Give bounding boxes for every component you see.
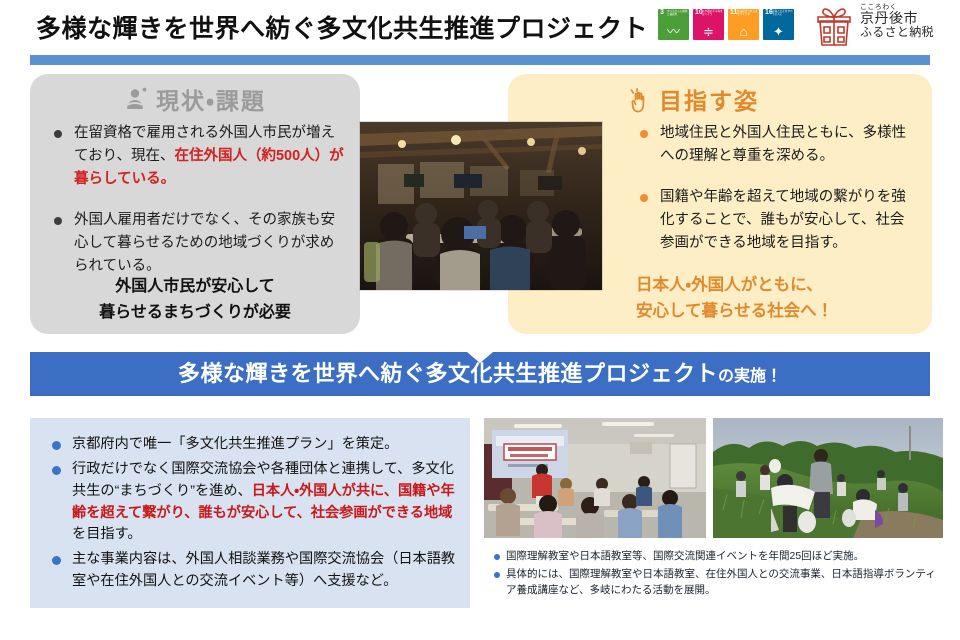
furusato-nozei-logo: こころわく 京丹後市 ふるさと納税	[812, 4, 942, 48]
banner-text: 多様な輝きを世界へ紡ぐ多文化共生推進プロジェクトの実施！	[30, 352, 930, 396]
goal-vision-list: 地域住民と外国人住民ともに、多様性への理解と尊重を深める。 国籍や年齢を超えて地…	[636, 122, 918, 273]
pointing-hand-icon	[628, 88, 652, 114]
sdg-label: 住み続けられるまちづくりを	[737, 10, 758, 17]
bullet-text-normal: 京都府内で唯一「多文化共生推進プラン」を策定。	[72, 436, 398, 452]
troubled-person-icon	[124, 87, 150, 113]
sdg-icon-group: 3 すべての人に健康と福祉を 〰 10 人や国の不平等をなくそう ≑ 11 住み…	[658, 9, 794, 40]
current-issues-conclusion: 外国人市民が安心して 暮らせるまちづくりが必要	[30, 274, 360, 325]
meeting-in-cafe-photo	[360, 122, 602, 290]
sdg-icon-11: 11 住み続けられるまちづくりを ⌂	[728, 9, 759, 40]
current-issues-heading-text: 現状・課題	[156, 88, 266, 114]
current-issues-list: 在留資格で雇用される外国人市民が増えており、現在、在住外国人（約500人）が暮ら…	[48, 122, 348, 295]
sdg-number: 3	[660, 9, 664, 17]
bullet-text-normal: 外国人雇用者だけでなく、その家族も安心して暮らせるための地域づくりが求められてい…	[74, 212, 335, 274]
furusato-city-name: 京丹後市	[860, 11, 934, 26]
list-item: 行政だけでなく国際交流協会や各種団体と連携して、多文化共生の“まちづくり”を進め…	[42, 459, 462, 546]
list-item: 京都府内で唯一「多文化共生推進プラン」を策定。	[42, 434, 462, 456]
current-issues-panel: 現状・課題 在留資格で雇用される外国人市民が増えており、現在、在住外国人（約50…	[30, 74, 360, 334]
sdg-label: 人や国の不平等をなくそう	[702, 10, 723, 17]
list-item: 国際理解教室や日本語教室等、国際交流関連イベントを年間25回ほど実施。	[492, 549, 944, 565]
photo-artwork	[484, 418, 706, 538]
conclusion-line-1: 外国人市民が安心して	[30, 274, 360, 300]
goal-vision-heading-text: 目指す姿	[659, 88, 759, 114]
initiatives-list: 京都府内で唯一「多文化共生推進プラン」を策定。 行政だけでなく国際交流協会や各種…	[42, 434, 462, 596]
equality-icon: ≑	[693, 25, 724, 38]
current-issues-heading: 現状・課題	[30, 82, 360, 116]
list-item: 地域住民と外国人住民ともに、多様性への理解と尊重を深める。	[636, 122, 918, 168]
dove-gavel-icon: ✦	[763, 25, 794, 38]
japanese-class-photo	[484, 418, 706, 538]
photo-artwork	[713, 418, 943, 538]
sdg-icon-16: 16 平和と公正をすべての人に ✦	[763, 9, 794, 40]
slide-header: 多様な輝きを世界へ紡ぐ多文化共生推進プロジェクト 3 すべての人に健康と福祉を …	[0, 0, 960, 52]
city-icon: ⌂	[728, 25, 759, 38]
banner-suffix-text: の実施！	[718, 368, 782, 385]
furusato-text-block: こころわく 京丹後市 ふるさと納税	[860, 4, 934, 39]
sdg-icon-10: 10 人や国の不平等をなくそう ≑	[693, 9, 724, 40]
list-item: 国籍や年齢を超えて地域の繋がりを強化することで、誰もが安心して、社会参画ができる…	[636, 186, 918, 255]
conclusion-line-1: 日本人・外国人がともに、	[636, 272, 926, 298]
bullet-text-normal-tail: を目指す。	[72, 526, 142, 542]
header-divider-bar	[30, 55, 930, 65]
community-cleanup-photo	[713, 418, 943, 538]
furusato-program-name: ふるさと納税	[860, 26, 934, 39]
initiatives-panel: 京都府内で唯一「多文化共生推進プラン」を策定。 行政だけでなく国際交流協会や各種…	[30, 418, 470, 608]
gift-box-icon	[812, 5, 856, 47]
goal-vision-conclusion: 日本人・外国人がともに、 安心して暮らせる社会へ！	[636, 272, 926, 325]
goal-vision-heading: 目指す姿	[628, 82, 759, 116]
conclusion-line-2: 暮らせるまちづくりが必要	[30, 300, 360, 326]
project-banner: 多様な輝きを世界へ紡ぐ多文化共生推進プロジェクトの実施！	[30, 352, 930, 396]
activity-notes-list: 国際理解教室や日本語教室等、国際交流関連イベントを年間25回ほど実施。 具体的に…	[492, 549, 944, 601]
sdg-label: すべての人に健康と福祉を	[667, 10, 688, 17]
list-item: 主な事業内容は、外国人相談業務や国際交流協会（日本語教室や在住外国人との交流イベ…	[42, 549, 462, 593]
bullet-text-normal: 主な事業内容は、外国人相談業務や国際交流協会（日本語教室や在住外国人との交流イベ…	[72, 551, 455, 589]
banner-main-text: 多様な輝きを世界へ紡ぐ多文化共生推進プロジェクト	[178, 361, 718, 386]
sdg-icon-3: 3 すべての人に健康と福祉を 〰	[658, 9, 689, 40]
page-title: 多様な輝きを世界へ紡ぐ多文化共生推進プロジェクト	[36, 9, 648, 45]
sdg-label: 平和と公正をすべての人に	[772, 10, 793, 17]
list-item: 在留資格で雇用される外国人市民が増えており、現在、在住外国人（約500人）が暮ら…	[48, 122, 348, 191]
list-item: 外国人雇用者だけでなく、その家族も安心して暮らせるための地域づくりが求められてい…	[48, 209, 348, 278]
photo-artwork	[360, 122, 602, 290]
heartbeat-icon: 〰	[658, 25, 689, 38]
list-item: 具体的には、国際理解教室や日本語教室、在住外国人との交流事業、日本語指導ボランテ…	[492, 567, 944, 599]
conclusion-line-2: 安心して暮らせる社会へ！	[636, 298, 926, 324]
